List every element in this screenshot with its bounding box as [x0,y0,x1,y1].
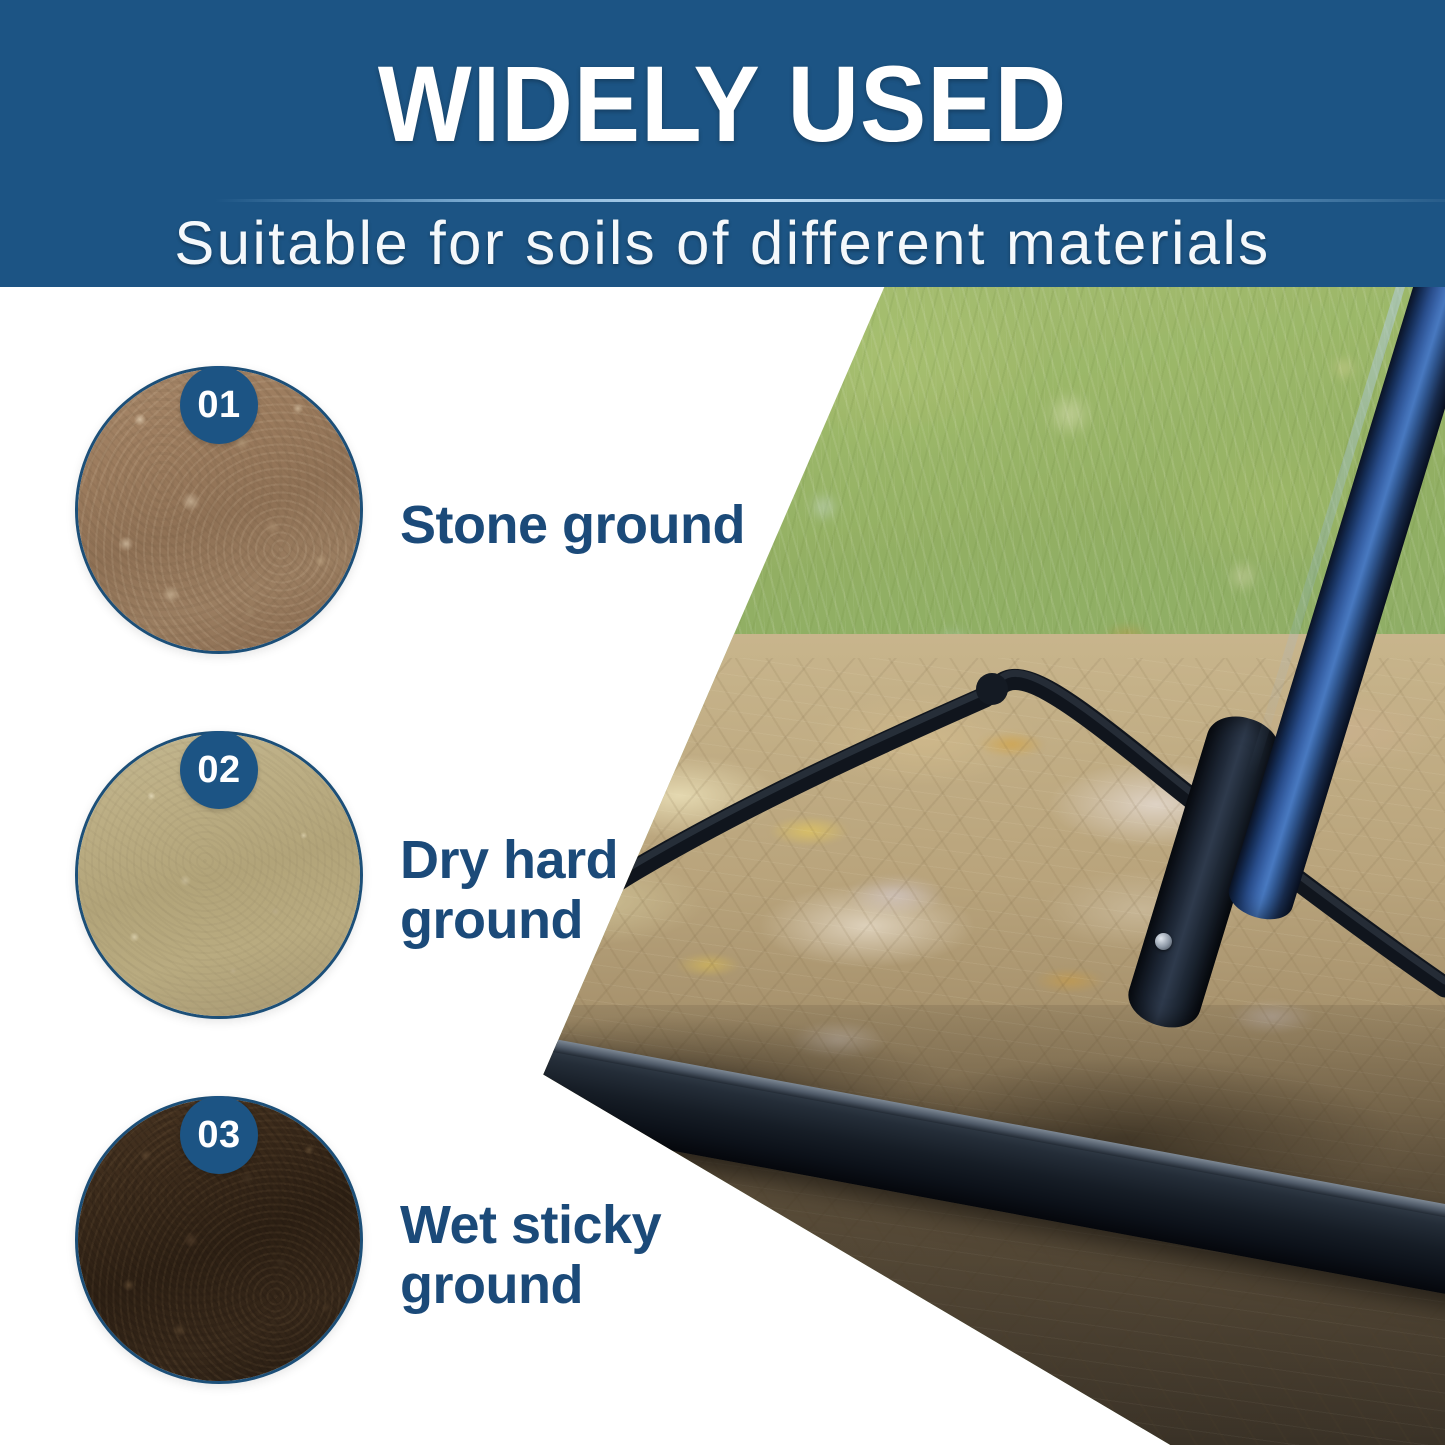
soil-badge-03: 03 [180,1096,258,1174]
soil-badge-02: 02 [180,731,258,809]
soil-item-3: 03 Wet sticky ground [0,0,1445,1445]
soil-label-wet-sticky-ground: Wet sticky ground [400,1195,760,1315]
infographic-root: WIDELY USED Suitable for soils of differ… [0,0,1445,1445]
soil-badge-01: 01 [180,366,258,444]
